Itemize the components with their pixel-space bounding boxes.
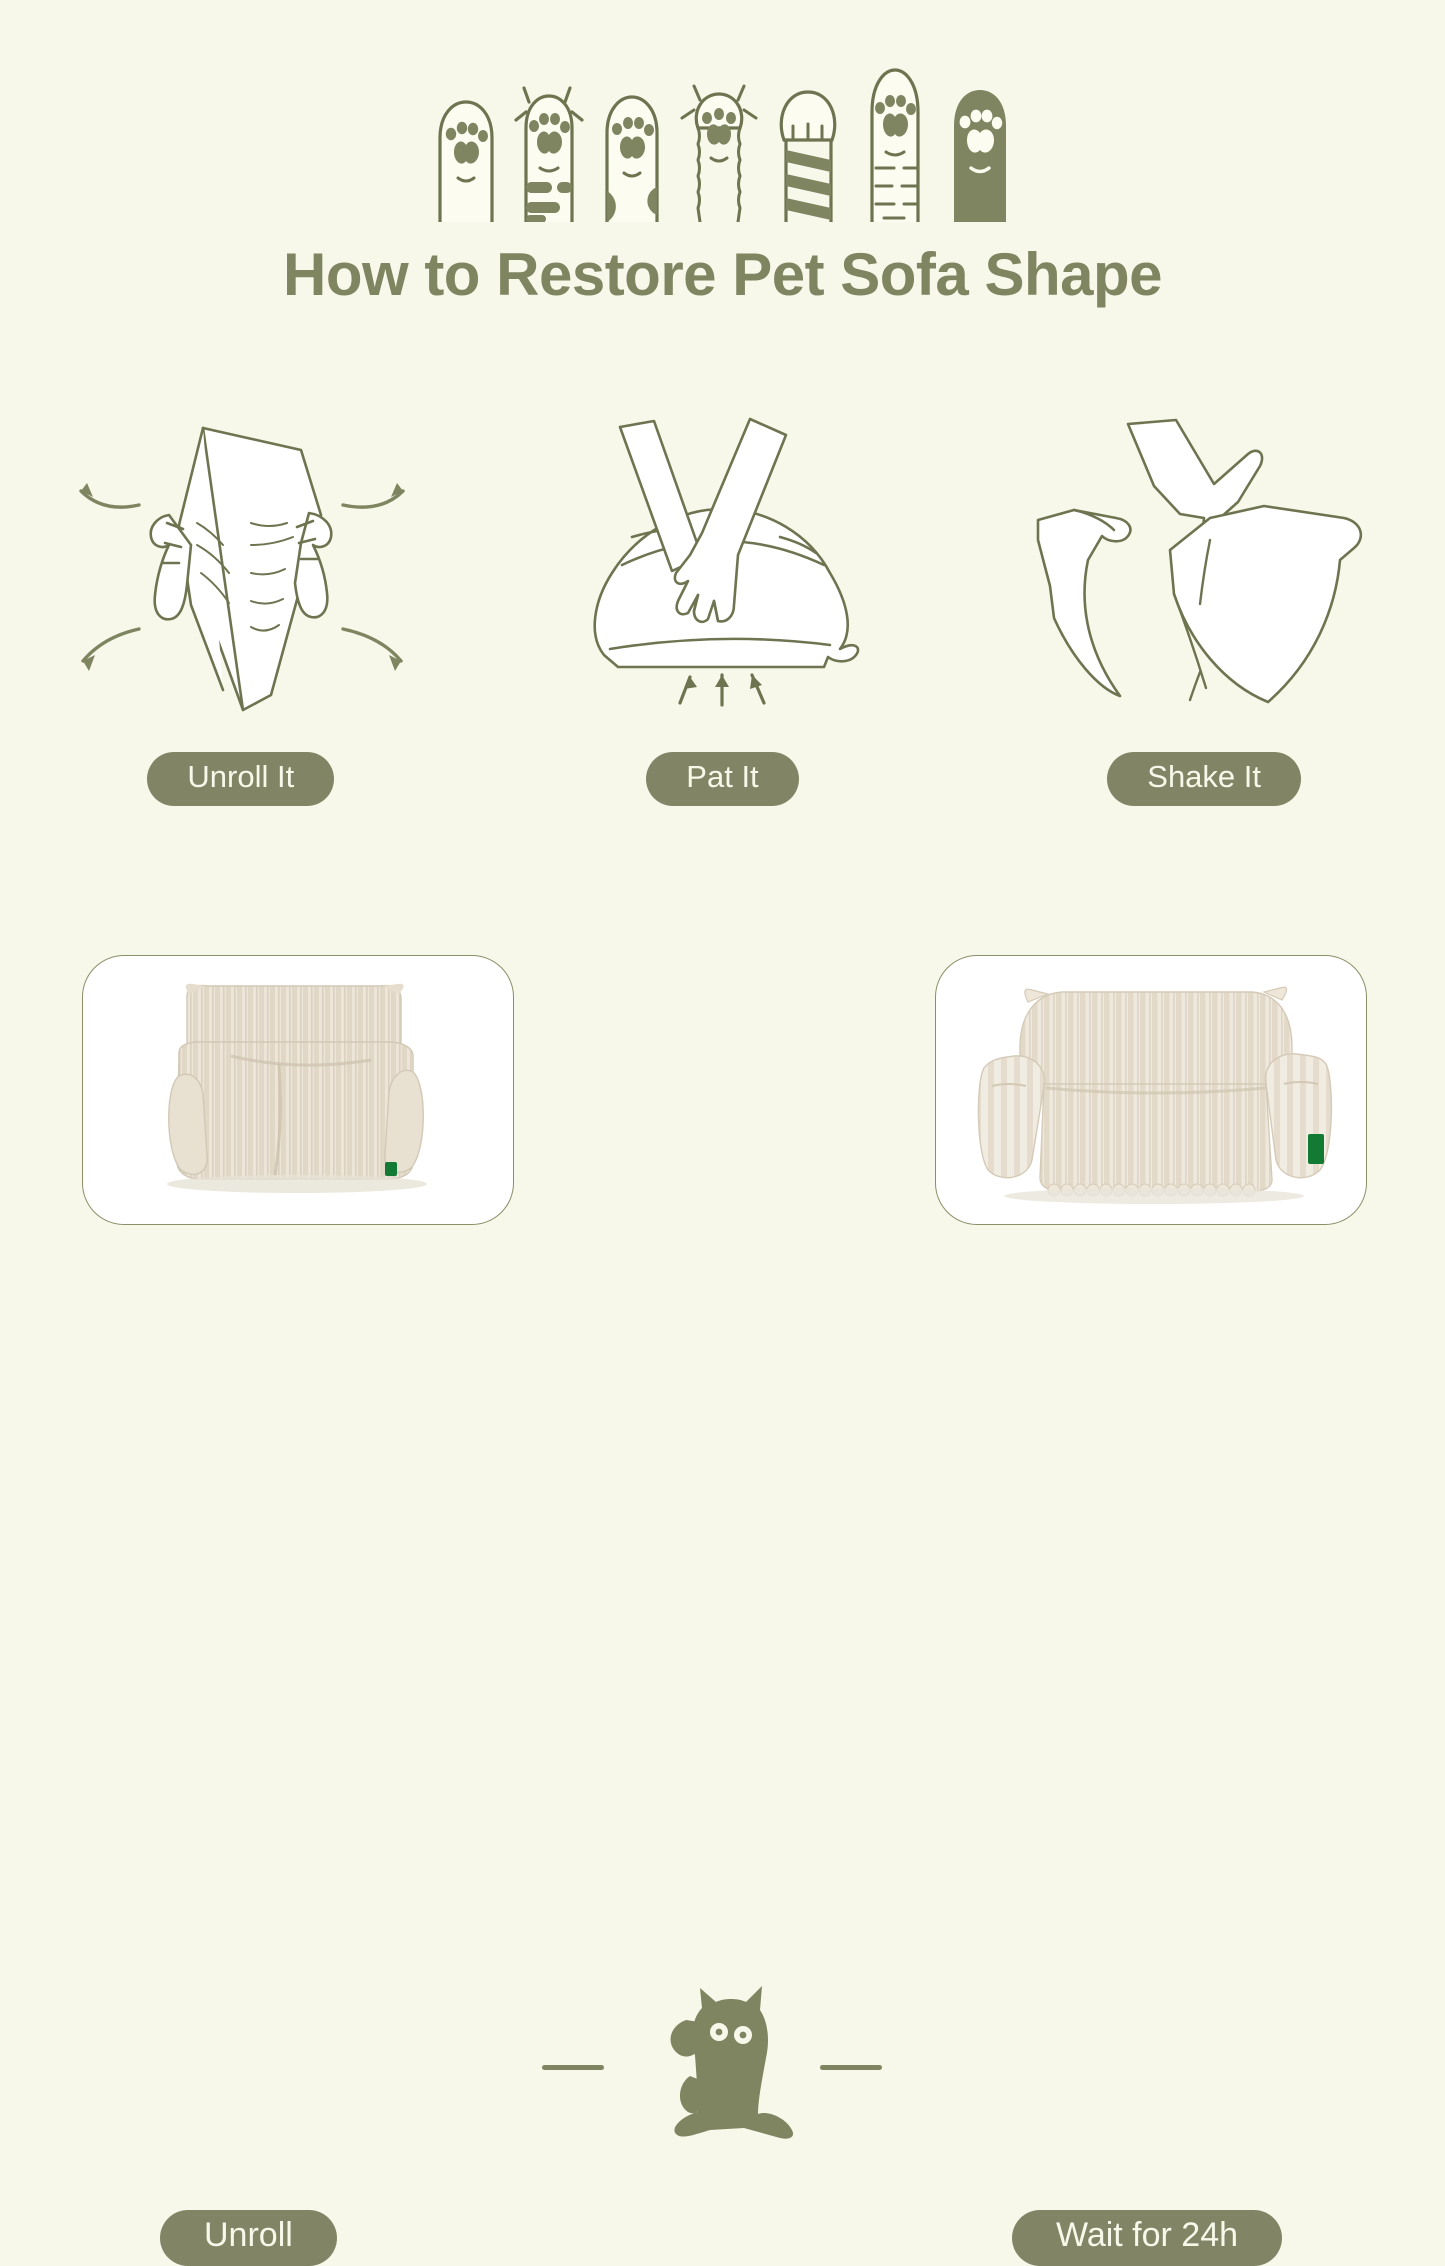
- divider-dash-right: [820, 2065, 882, 2070]
- comparison-divider: [540, 1980, 910, 2155]
- step-shake-it: Shake It: [984, 400, 1424, 806]
- paw-outline-plain-icon: [430, 94, 502, 222]
- pat-it-illustration: [562, 400, 882, 730]
- step-unroll-it-badge[interactable]: Unroll It: [147, 752, 334, 806]
- after-label-badge[interactable]: Wait for 24h: [1012, 2210, 1282, 2266]
- before-product-card[interactable]: [82, 955, 514, 1225]
- step-shake-it-badge[interactable]: Shake It: [1107, 752, 1301, 806]
- steps-row: Unroll It: [0, 400, 1445, 840]
- step-pat-it-badge[interactable]: Pat It: [646, 752, 798, 806]
- step-pat-it: Pat It: [502, 400, 942, 806]
- unroll-it-illustration: [51, 400, 431, 730]
- sitting-cat-icon: [640, 1980, 810, 2155]
- restored-pet-sofa-photo: [936, 956, 1366, 1224]
- hands-unrolling-icon: [51, 405, 431, 725]
- shake-it-illustration: [1024, 400, 1384, 730]
- step-shake-it-badge-wrap: Shake It: [1107, 752, 1301, 806]
- after-product-card[interactable]: [935, 955, 1367, 1225]
- paw-toebean-zebra-icon: [770, 74, 846, 222]
- hands-shaking-icon: [1024, 410, 1384, 720]
- step-pat-it-badge-wrap: Pat It: [646, 752, 798, 806]
- divider-dash-left: [542, 2065, 604, 2070]
- folded-pet-bed-photo: [83, 956, 513, 1224]
- page-title: How to Restore Pet Sofa Shape: [0, 240, 1445, 309]
- cat-paw-strip: [0, 62, 1445, 222]
- paw-fuzzy-claws-icon: [676, 72, 762, 222]
- hands-patting-icon: [562, 405, 882, 725]
- step-unroll-it: Unroll It: [21, 400, 461, 806]
- before-label-badge[interactable]: Unroll: [160, 2210, 337, 2266]
- infographic-root: How to Restore Pet Sofa Shape: [0, 0, 1445, 1445]
- paw-spots-icon: [596, 87, 668, 222]
- paw-claws-stripes-icon: [510, 82, 588, 222]
- paw-solid-icon: [944, 82, 1016, 222]
- comparison-row: Unroll Wait for 24h: [0, 955, 1445, 1355]
- step-unroll-it-badge-wrap: Unroll It: [147, 752, 334, 806]
- paw-dashes-icon: [854, 64, 936, 222]
